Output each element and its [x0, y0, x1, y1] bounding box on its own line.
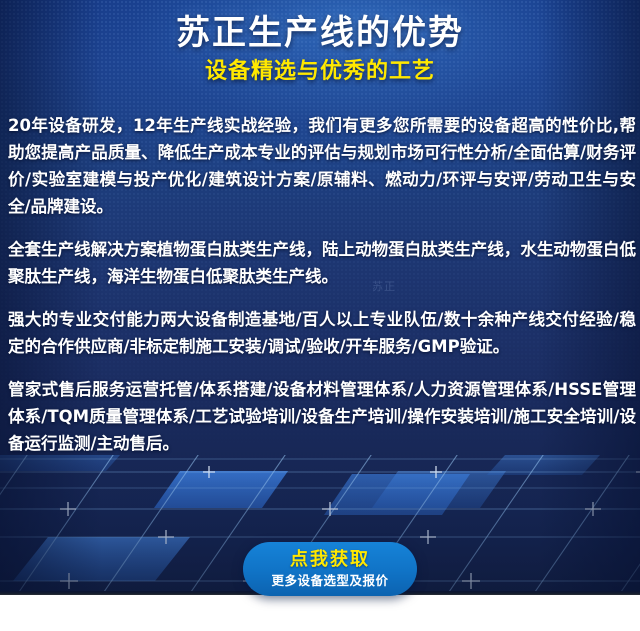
body-copy: 20年设备研发，12年生产线实战经验，我们有更多您所需要的设备超高的性价比,帮助…	[8, 112, 636, 457]
paragraph-3: 强大的专业交付能力两大设备制造基地/百人以上专业队伍/数十余种产线交付经验/稳定…	[8, 306, 636, 360]
promo-banner: 苏正生产线的优势 设备精选与优秀的工艺 20年设备研发，12年生产线实战经验，我…	[0, 0, 640, 631]
paragraph-2: 全套生产线解决方案植物蛋白肽类生产线，陆上动物蛋白肽类生产线，水生动物蛋白低聚肽…	[8, 236, 636, 290]
banner-header: 苏正生产线的优势 设备精选与优秀的工艺	[0, 0, 640, 86]
paragraph-4: 管家式售后服务运营托管/体系搭建/设备材料管理体系/人力资源管理体系/HSSE管…	[8, 376, 636, 457]
page-subtitle: 设备精选与优秀的工艺	[0, 53, 640, 86]
page-title: 苏正生产线的优势	[0, 0, 640, 53]
paragraph-1: 20年设备研发，12年生产线实战经验，我们有更多您所需要的设备超高的性价比,帮助…	[8, 112, 636, 220]
cta-primary-label: 点我获取	[290, 549, 370, 571]
cta-secondary-label: 更多设备选型及报价	[271, 571, 388, 589]
get-quote-button[interactable]: 点我获取 更多设备选型及报价	[243, 542, 417, 596]
